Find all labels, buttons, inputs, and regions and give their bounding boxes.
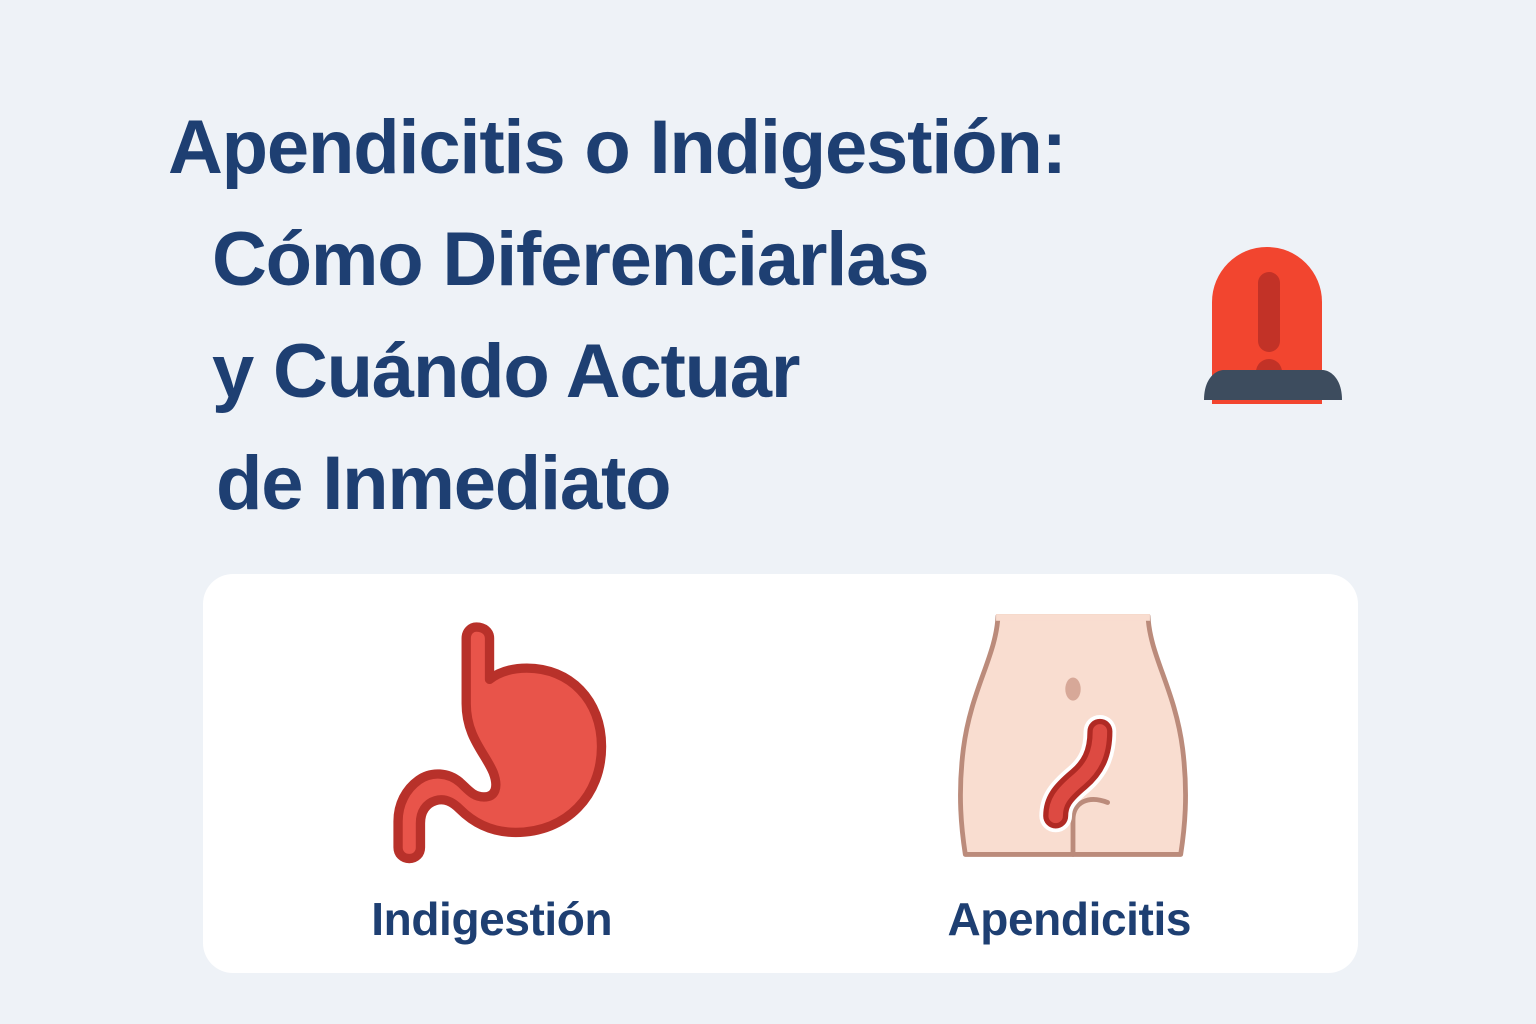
alarm-siren-icon	[1196, 228, 1356, 408]
torso-top-mask	[996, 614, 1150, 621]
poster-canvas: Apendicitis o Indigestión: Cómo Diferenc…	[0, 0, 1536, 1024]
navel	[1066, 678, 1081, 701]
stomach-icon	[366, 594, 628, 866]
title-line-1: Apendicitis o Indigestión:	[168, 92, 1398, 204]
abdomen-appendix-icon	[948, 594, 1198, 866]
siren-base	[1204, 370, 1342, 400]
siren-exclamation-bar	[1258, 272, 1280, 352]
panel-indigestion[interactable]: Indigestión	[203, 574, 781, 973]
panel-label-indigestion: Indigestión	[371, 892, 612, 946]
panel-appendicitis[interactable]: Apendicitis	[781, 574, 1359, 973]
stomach-body	[398, 627, 601, 858]
panel-label-appendicitis: Apendicitis	[947, 892, 1191, 946]
comparison-card: Indigestión	[203, 574, 1358, 973]
title-line-4: de Inmediato	[168, 428, 1398, 540]
